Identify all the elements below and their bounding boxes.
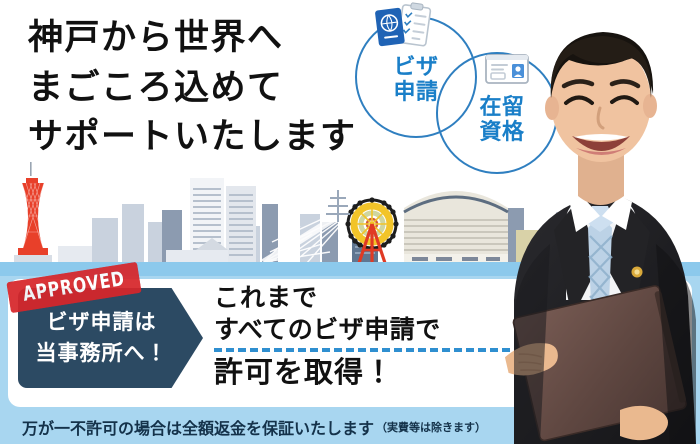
disclaimer-main-text: 万が一不許可の場合は全額返金を保証いたします	[22, 415, 374, 439]
headline-line-3: サポートいたします	[28, 113, 388, 163]
headline-line-2: まごころ込めて	[28, 64, 388, 114]
promo-line-2: すべてのビザ申請で	[214, 314, 544, 346]
arrow-banner-line-1: ビザ申請は	[47, 307, 175, 339]
business-consultant-photo	[500, 0, 700, 444]
arrow-banner-line-2: 当事務所へ！	[36, 338, 186, 370]
promo-line-3: 許可を取得！	[214, 355, 544, 390]
visa-office-banner: 神戸から世界へ まごころ込めて サポートいたします ビザ 申請 在留 資格	[0, 0, 700, 444]
headline-block: 神戸から世界へ まごころ込めて サポートいたします	[28, 14, 388, 163]
promo-text-block: これまで すべてのビザ申請で 許可を取得！	[214, 282, 544, 390]
disclaimer-note-text: （実費等は除きます）	[376, 419, 486, 435]
status-circle-label: 在留 資格	[452, 96, 552, 145]
status-circle-label-line-2: 資格	[452, 121, 552, 146]
status-circle-label-line-1: 在留	[452, 96, 552, 121]
id-card-icon	[484, 52, 530, 91]
promo-dashed-underline	[214, 348, 510, 352]
headline-line-1: 神戸から世界へ	[28, 14, 388, 64]
promo-line-1: これまで	[214, 282, 544, 314]
